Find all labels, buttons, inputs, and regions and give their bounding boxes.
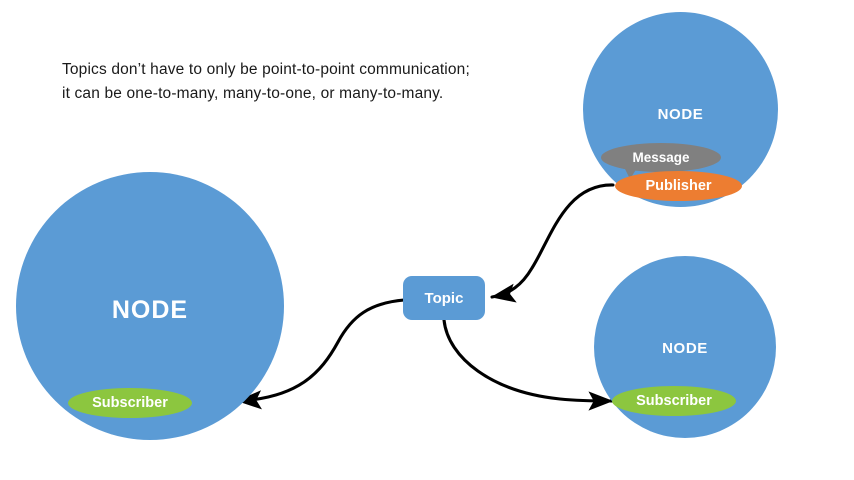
topic-box-label: Topic — [425, 290, 464, 307]
message-bubble[interactable]: Message — [601, 143, 721, 172]
edge-publisher-to-topic — [492, 185, 613, 297]
subscriber-bottom-right[interactable]: Subscriber — [612, 386, 736, 416]
subscriber-left-label: Subscriber — [92, 395, 168, 411]
subscriber-bottom-right-label: Subscriber — [636, 393, 712, 409]
edge-topic-to-subscriber-bottom-right — [444, 320, 612, 401]
slide-canvas: Topics don’t have to only be point-to-po… — [0, 0, 854, 480]
subscriber-left[interactable]: Subscriber — [68, 388, 192, 418]
node-top-right[interactable]: NODE Message Publisher — [583, 12, 778, 207]
node-top-right-label: NODE — [583, 106, 778, 123]
message-bubble-label: Message — [632, 150, 689, 165]
node-left[interactable]: NODE Subscriber — [16, 172, 284, 440]
publisher-top-right-label: Publisher — [645, 178, 711, 194]
caption-text: Topics don’t have to only be point-to-po… — [62, 58, 482, 106]
node-bottom-right[interactable]: NODE Subscriber — [594, 256, 776, 438]
node-left-label: NODE — [16, 296, 284, 325]
node-bottom-right-label: NODE — [594, 340, 776, 357]
publisher-top-right[interactable]: Publisher — [615, 171, 742, 201]
topic-box[interactable]: Topic — [403, 276, 485, 320]
